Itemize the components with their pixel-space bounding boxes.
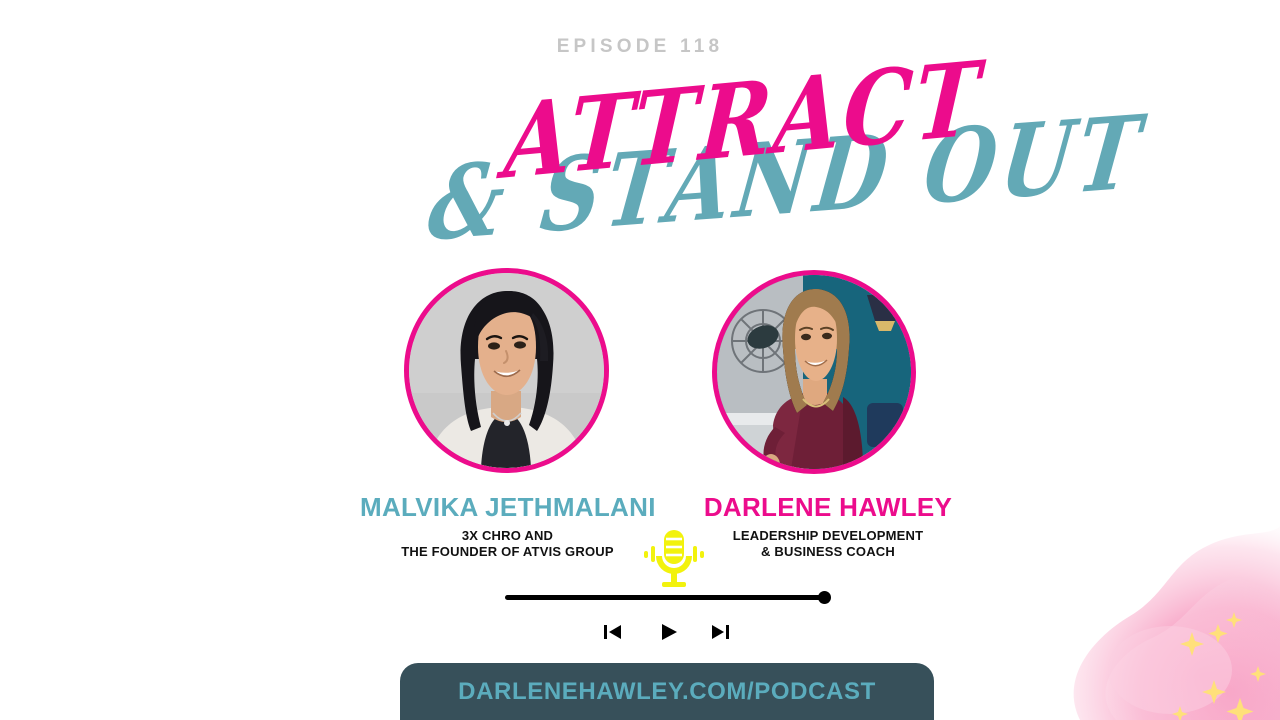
skip-next-button[interactable]: [707, 621, 733, 643]
watercolor-svg: [1020, 520, 1280, 720]
guest-role-right: LEADERSHIP DEVELOPMENT & BUSINESS COACH: [700, 528, 956, 559]
microphone-glyph: [638, 528, 710, 590]
skip-previous-button[interactable]: [600, 621, 626, 643]
guest-photo-right-art: [717, 275, 911, 469]
corner-watercolor-decoration: [1020, 520, 1280, 720]
play-button[interactable]: [656, 621, 682, 643]
microphone-icon: [638, 528, 710, 590]
podcast-url-banner[interactable]: DARLENEHAWLEY.COM/PODCAST: [400, 663, 934, 720]
podcast-episode-cover: EPISODE 118 & STAND OUT ATTRACT: [0, 0, 1280, 720]
skip-next-icon: [707, 621, 733, 643]
show-title-block: & STAND OUT ATTRACT: [0, 52, 1280, 227]
guest-photo-right: [717, 275, 911, 469]
progress-bar-knob[interactable]: [818, 591, 831, 604]
guest-name-left: MALVIKA JETHMALANI: [360, 492, 655, 523]
podcast-url-text: DARLENEHAWLEY.COM/PODCAST: [458, 678, 876, 706]
play-icon: [656, 621, 682, 643]
guest-name-right: DARLENE HAWLEY: [700, 492, 956, 523]
progress-bar-track[interactable]: [505, 595, 825, 600]
guest-portrait-left: [404, 268, 609, 473]
guest-photo-left-art: [409, 273, 604, 468]
guest-photo-left: [409, 273, 604, 468]
skip-previous-icon: [600, 621, 626, 643]
guest-role-left: 3X CHRO AND THE FOUNDER OF ATVIS GROUP: [360, 528, 655, 559]
guest-portrait-right: [712, 270, 916, 474]
